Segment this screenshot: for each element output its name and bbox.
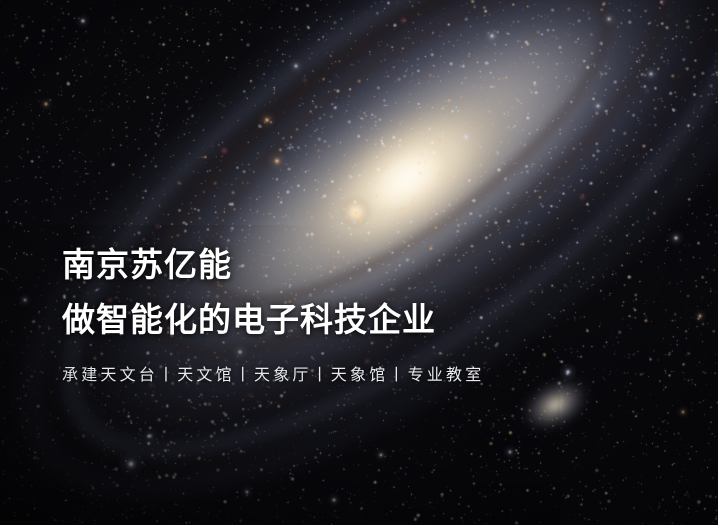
hero-banner: 南京苏亿能 做智能化的电子科技企业 承建天文台丨天文馆丨天象厅丨天象馆丨专业教室 bbox=[0, 0, 718, 525]
banner-copy: 南京苏亿能 做智能化的电子科技企业 承建天文台丨天文馆丨天象厅丨天象馆丨专业教室 bbox=[62, 248, 662, 385]
banner-subtitle: 承建天文台丨天文馆丨天象厅丨天象馆丨专业教室 bbox=[62, 366, 662, 385]
headline-line-2: 做智能化的电子科技企业 bbox=[62, 303, 662, 336]
headline-line-1: 南京苏亿能 bbox=[62, 248, 662, 281]
